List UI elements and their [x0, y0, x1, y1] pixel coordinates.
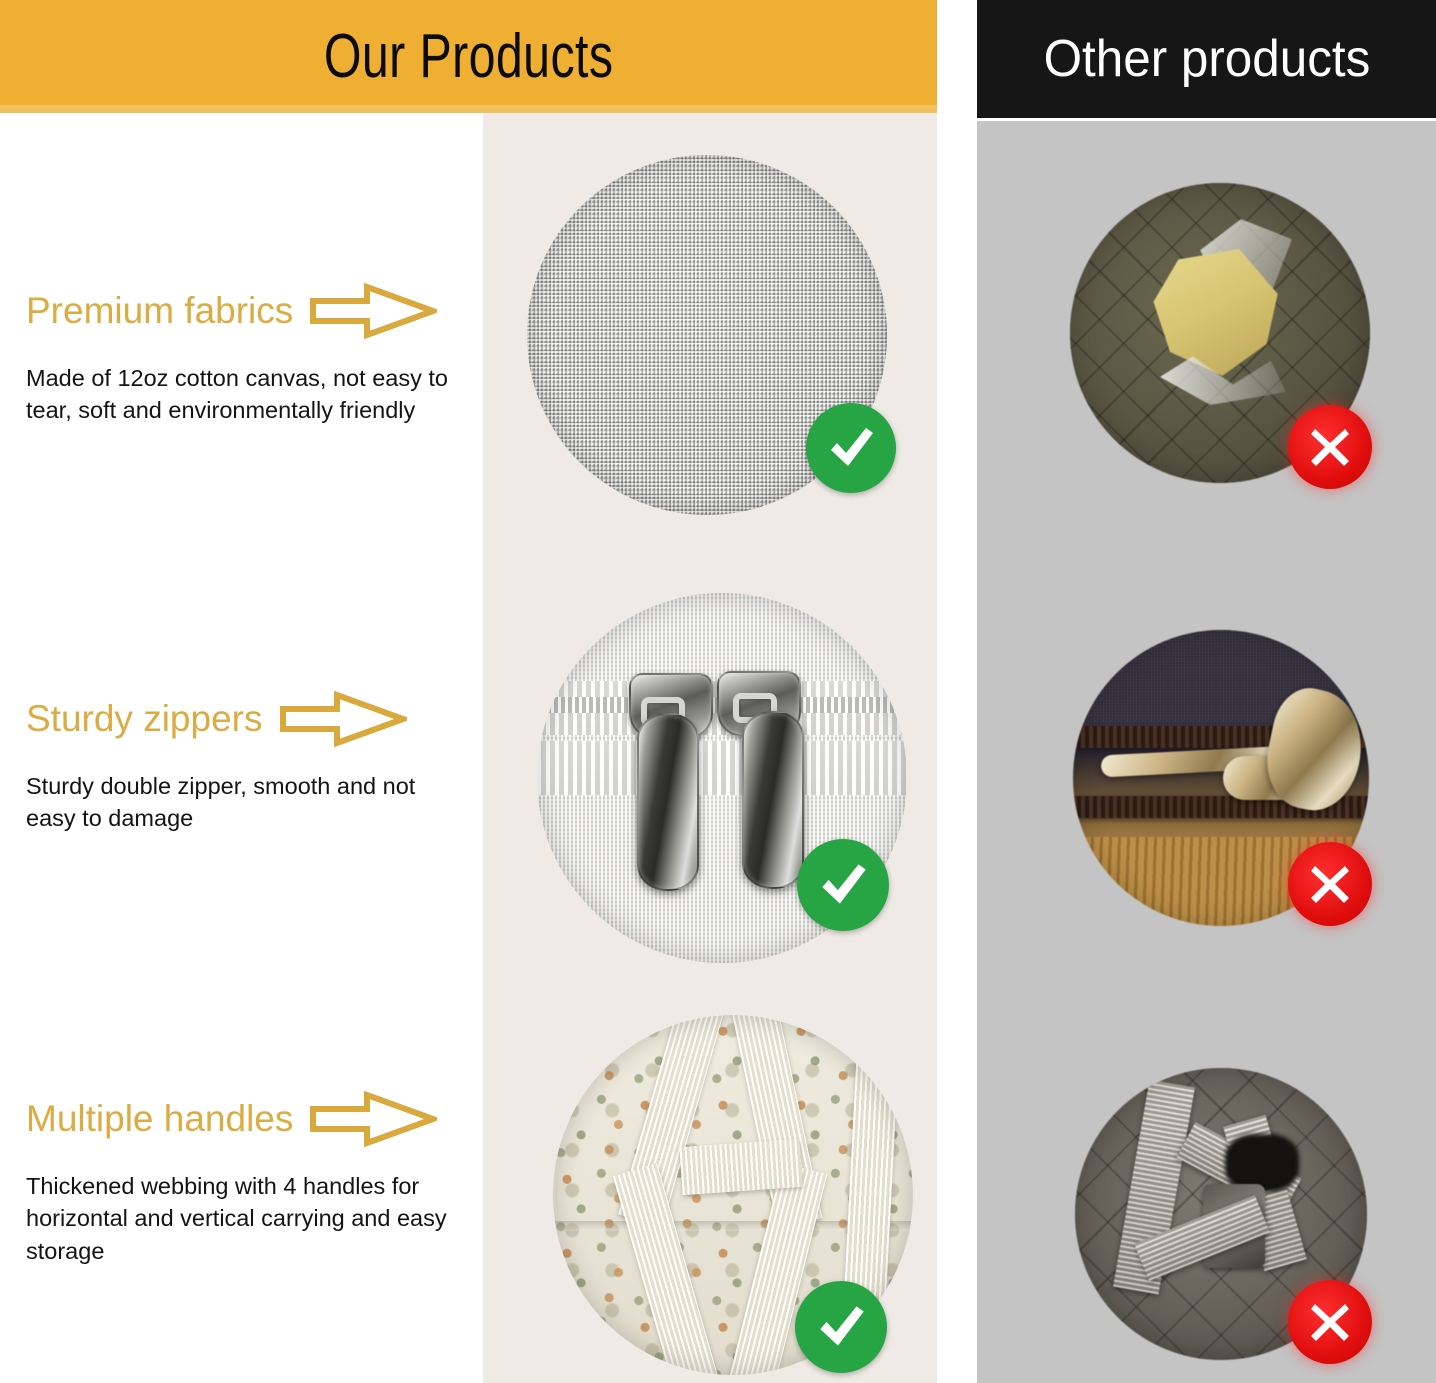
feature-title: Sturdy zippers — [26, 700, 263, 739]
arrow-right-outline-icon — [309, 282, 437, 340]
feature-multiple-handles: Multiple handles Thickened webbing with … — [26, 1090, 471, 1267]
bad-badge-broken-zipper — [1288, 842, 1372, 926]
feature-premium-fabrics: Premium fabrics Made of 12oz cotton canv… — [26, 282, 471, 427]
feature-heading-row: Multiple handles — [26, 1090, 471, 1148]
other-products-title: Other products — [1043, 29, 1370, 89]
good-badge-sturdy-zippers — [797, 839, 889, 931]
zipper-pull-left — [637, 713, 699, 891]
cross-mark-icon — [1303, 1295, 1357, 1349]
header-sheen — [0, 105, 937, 113]
cross-mark-icon — [1303, 857, 1357, 911]
good-badge-premium-fabrics — [806, 403, 896, 493]
feature-heading-row: Sturdy zippers — [26, 690, 471, 748]
our-products-panel: Our Products Premium fabrics Made of 12o… — [0, 0, 937, 1383]
arrow-right-outline-icon — [279, 690, 407, 748]
webbing-strap-cross — [679, 1139, 802, 1195]
zipper-pull-right — [742, 711, 804, 889]
other-products-header: Other products — [977, 0, 1436, 118]
check-mark-icon — [812, 854, 874, 916]
feature-title: Premium fabrics — [26, 292, 293, 331]
good-badge-multiple-handles — [795, 1281, 887, 1373]
zipper-tape — [537, 741, 907, 795]
our-products-title: Our Products — [324, 21, 614, 92]
bad-badge-torn-handles — [1288, 1280, 1372, 1364]
feature-title: Multiple handles — [26, 1100, 293, 1139]
feature-description: Sturdy double zipper, smooth and not eas… — [26, 770, 456, 835]
feature-description: Made of 12oz cotton canvas, not easy to … — [26, 362, 456, 427]
feature-heading-row: Premium fabrics — [26, 282, 471, 340]
arrow-right-outline-icon — [309, 1090, 437, 1148]
feature-sturdy-zippers: Sturdy zippers Sturdy double zipper, smo… — [26, 690, 471, 835]
our-products-header: Our Products — [0, 0, 937, 113]
cross-mark-icon — [1303, 420, 1357, 474]
check-mark-icon — [810, 1296, 872, 1358]
check-mark-icon — [821, 418, 881, 478]
feature-description: Thickened webbing with 4 handles for hor… — [26, 1170, 456, 1267]
bad-badge-torn-fabric — [1288, 405, 1372, 489]
